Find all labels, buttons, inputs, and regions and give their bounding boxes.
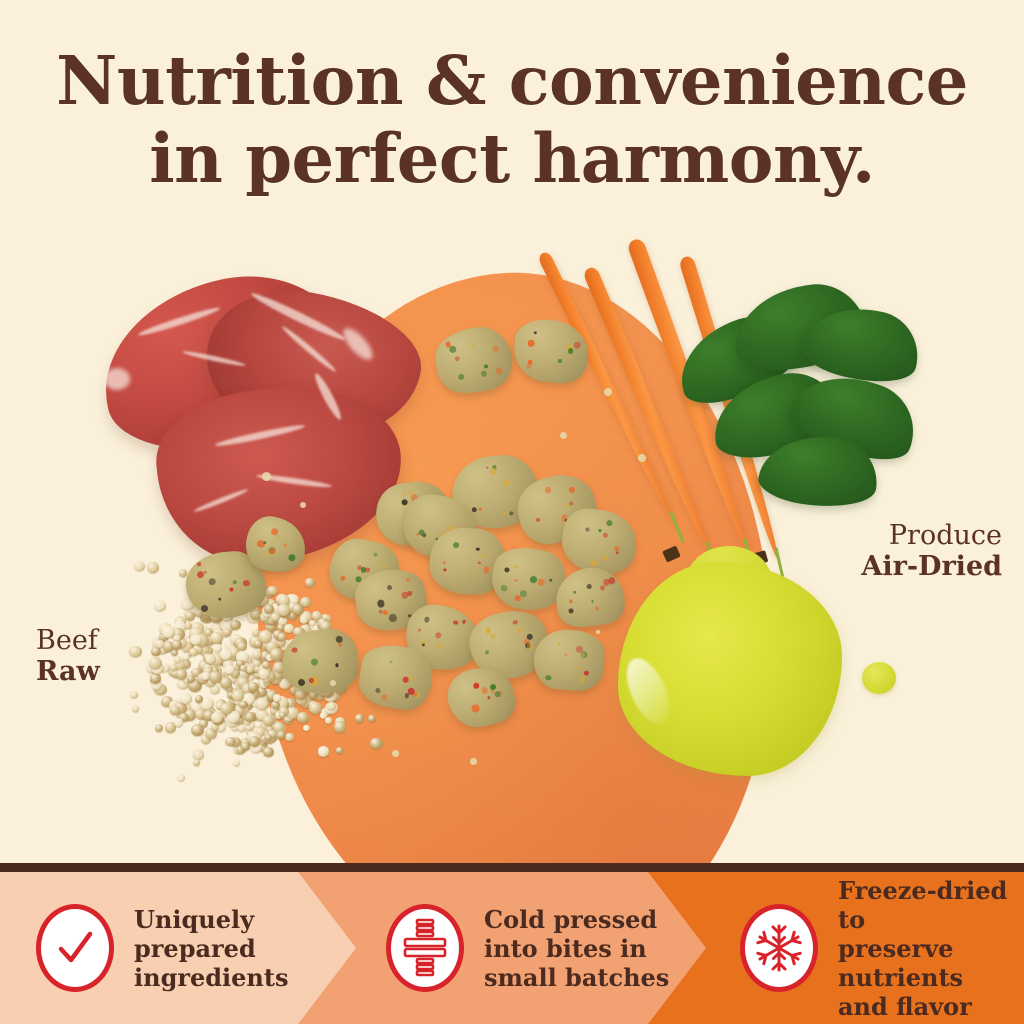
oil-droplet xyxy=(862,662,896,694)
ingredient-label-beef: Beef Raw xyxy=(36,625,100,687)
feature-text: Freeze-dried to preserve nutrients and f… xyxy=(838,876,1024,1021)
press-roller-icon xyxy=(386,904,464,992)
feature-text: Cold pressed into bites in small batches xyxy=(484,905,669,992)
feature-banner: Uniquely prepared ingredients xyxy=(0,872,1024,1024)
feature-text: Uniquely prepared ingredients xyxy=(134,905,288,992)
kibble-crumb xyxy=(262,472,271,481)
kibble-crumb xyxy=(604,388,612,396)
ingredient-name: Produce xyxy=(861,520,1002,551)
ingredient-label-produce: Produce Air-Dried xyxy=(861,520,1002,582)
section-divider xyxy=(0,863,1024,872)
feature-panel-2: Cold pressed into bites in small batches xyxy=(298,872,714,1024)
snowflake-icon xyxy=(740,904,818,992)
page-title: Nutrition & convenience in perfect harmo… xyxy=(0,42,1024,198)
check-circle-icon xyxy=(36,904,114,992)
headline-line-1: Nutrition & convenience xyxy=(56,41,968,120)
ingredient-process: Raw xyxy=(36,656,100,687)
ingredient-name: Beef xyxy=(36,625,100,656)
kibble-crumb xyxy=(392,750,399,757)
ingredient-scene: Beef Raw Sorghum Steamed Produce Air-Dri… xyxy=(0,210,1024,865)
oil-puddle-photo xyxy=(618,562,842,776)
ingredient-process: Air-Dried xyxy=(861,551,1002,582)
headline-line-2: in perfect harmony. xyxy=(0,120,1024,198)
spinach-leaves-photo xyxy=(672,280,922,520)
kibble-crumb xyxy=(470,758,477,765)
promo-graphic: Nutrition & convenience in perfect harmo… xyxy=(0,0,1024,1024)
